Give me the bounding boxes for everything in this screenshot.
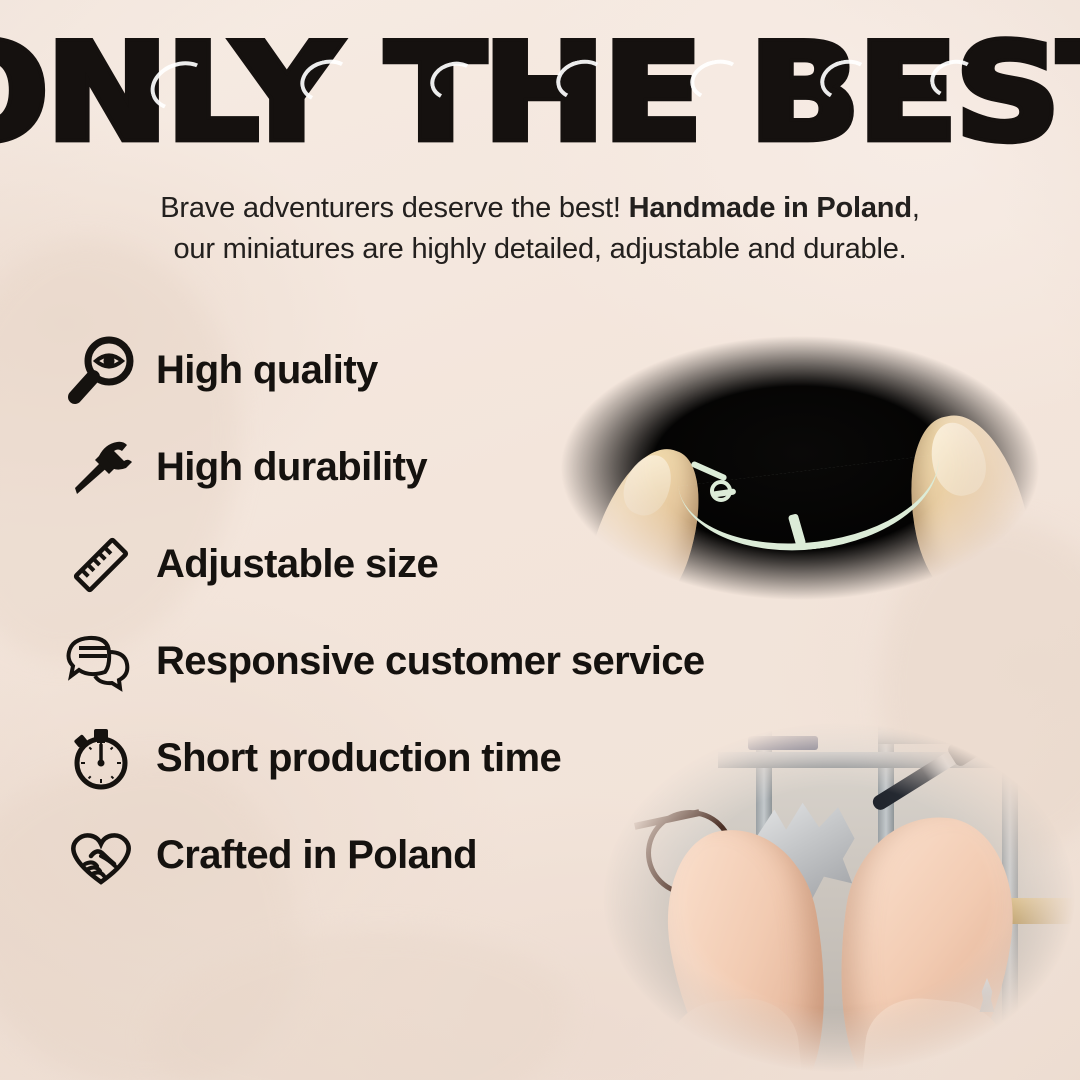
subtitle: Brave adventurers deserve the best! Hand… — [90, 188, 990, 270]
photo-bottom-shading — [578, 700, 1080, 1080]
workshop-crafting-photo — [578, 700, 1080, 1080]
subtitle-bold: Handmade in Poland — [629, 192, 912, 224]
headline: ONLY THE BEST — [0, 30, 1080, 158]
handshake-heart-icon — [62, 817, 140, 895]
subtitle-line2: our miniatures are highly detailed, adju… — [173, 233, 906, 265]
miniature-ring-detail — [710, 480, 732, 502]
hammer-icon — [62, 429, 140, 507]
ruler-icon — [62, 526, 140, 604]
magnifier-eye-icon — [62, 332, 140, 410]
miniature-flexibility-photo — [540, 318, 1060, 618]
promo-graphic: ONLY THE BEST Brave adventurers deserve … — [0, 0, 1080, 1080]
feature-label: Responsive customer service — [156, 639, 705, 684]
feature-item-responsive-customer-service: Responsive customer service — [62, 613, 822, 710]
subtitle-lead: Brave adventurers deserve the best! — [160, 192, 628, 224]
headline-text: ONLY THE BEST — [0, 27, 1080, 160]
feature-label: Short production time — [156, 736, 561, 781]
feature-label: Adjustable size — [156, 542, 438, 587]
feature-label: High quality — [156, 348, 378, 393]
subtitle-comma: , — [912, 192, 920, 224]
feature-label: High durability — [156, 445, 427, 490]
stopwatch-icon — [62, 720, 140, 798]
speech-bubbles-icon — [62, 623, 140, 701]
feature-label: Crafted in Poland — [156, 833, 477, 878]
